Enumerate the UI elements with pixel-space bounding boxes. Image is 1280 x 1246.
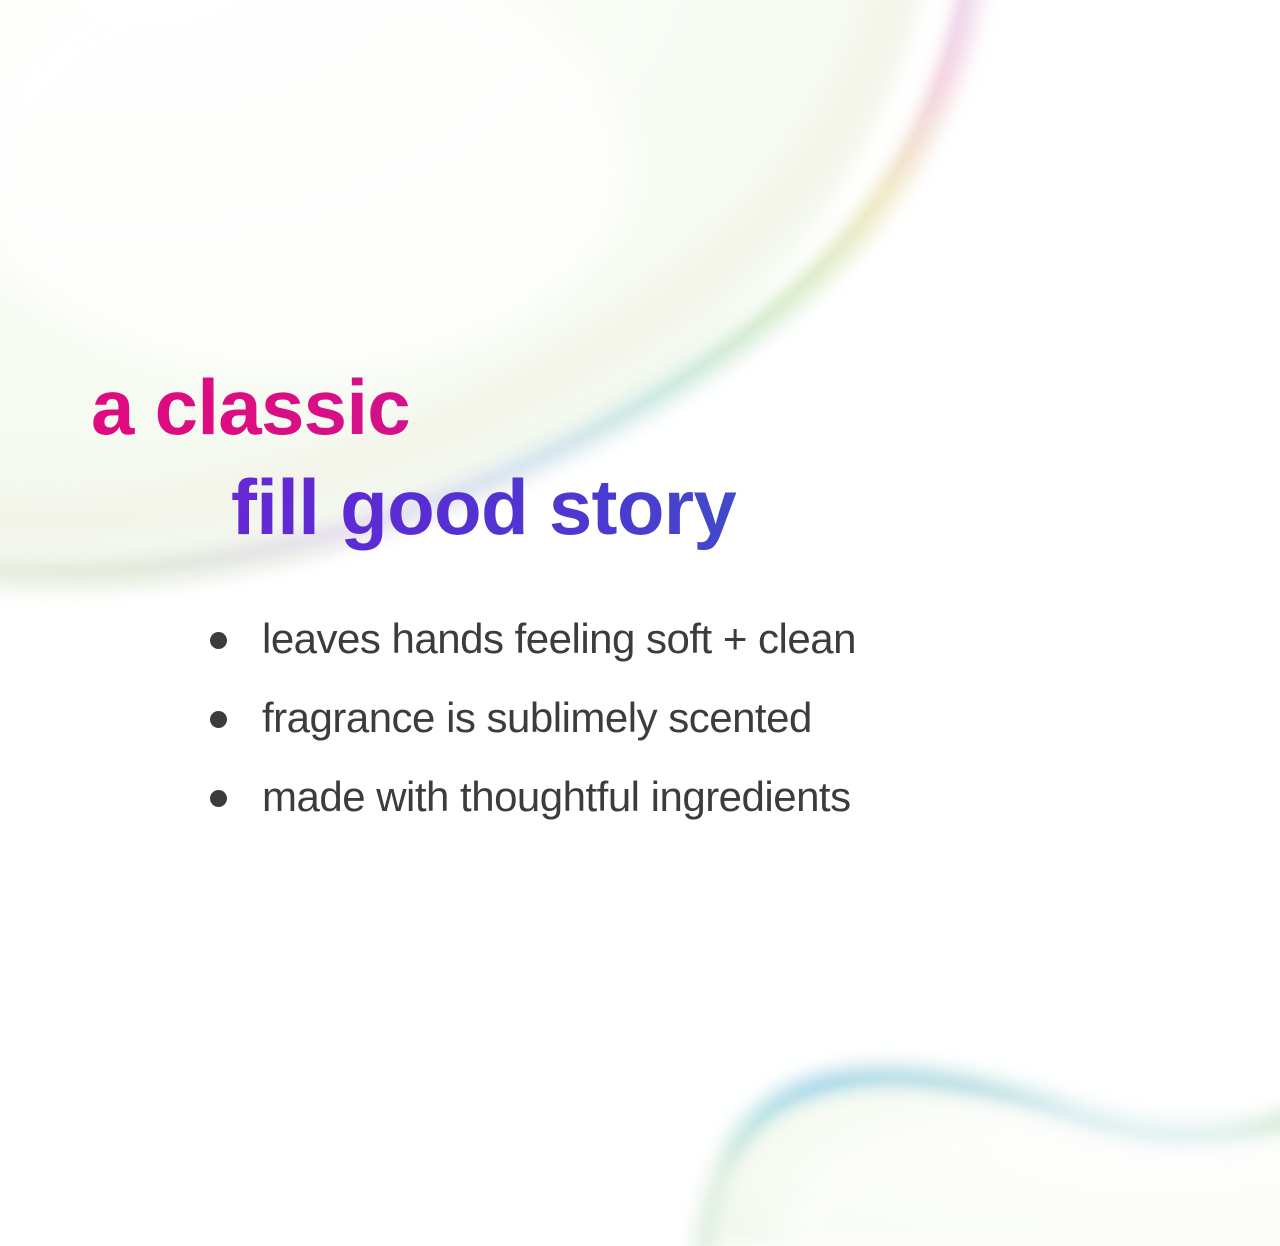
headline-line-2: fill good story bbox=[0, 457, 1280, 557]
list-item-label: leaves hands feeling soft + clean bbox=[262, 615, 856, 662]
list-item: made with thoughtful ingredients bbox=[0, 764, 1280, 830]
headline-line-1: a classic bbox=[0, 357, 1280, 457]
list-item: leaves hands feeling soft + clean bbox=[0, 606, 1280, 672]
benefits-list: leaves hands feeling soft + clean fragra… bbox=[0, 606, 1280, 843]
bullet-dot-icon bbox=[210, 632, 227, 649]
page-title: a classic fill good story bbox=[0, 357, 1280, 557]
list-item: fragrance is sublimely scented bbox=[0, 685, 1280, 751]
marketing-banner: a classic fill good story leaves hands f… bbox=[0, 0, 1280, 1246]
bullet-dot-icon bbox=[210, 711, 227, 728]
bullet-dot-icon bbox=[210, 790, 227, 807]
content-layer: a classic fill good story leaves hands f… bbox=[0, 0, 1280, 1246]
list-item-label: fragrance is sublimely scented bbox=[262, 694, 812, 741]
list-item-label: made with thoughtful ingredients bbox=[262, 773, 851, 820]
